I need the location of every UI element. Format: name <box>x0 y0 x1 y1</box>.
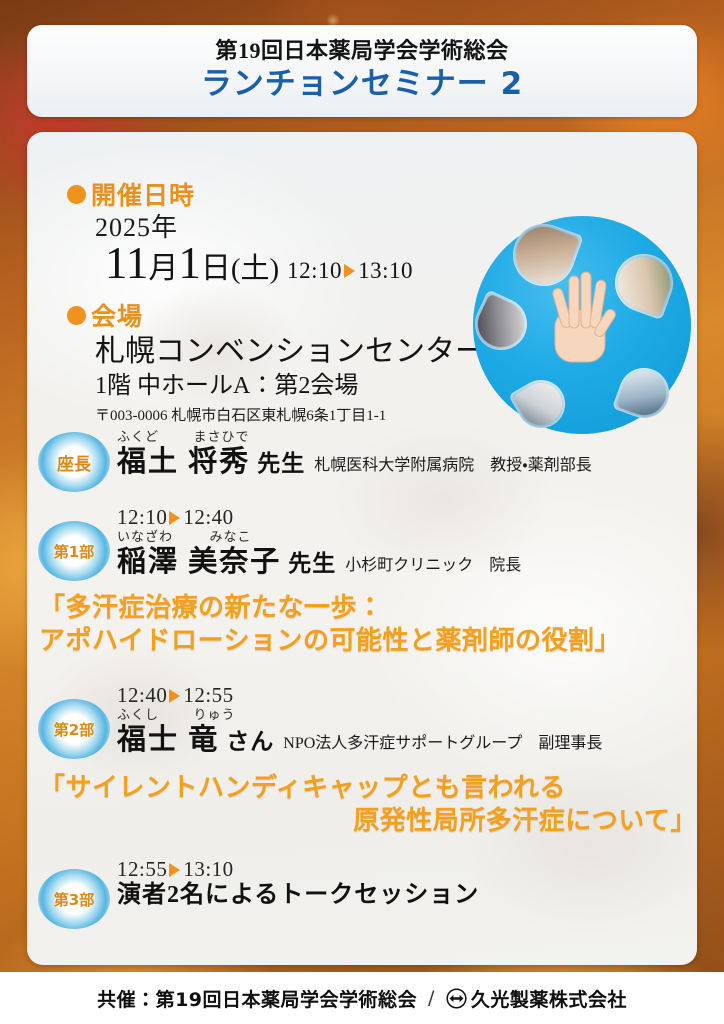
chair-affiliation: 札幌医科大学附属病院 教授・薬剤部長 <box>314 451 591 475</box>
time-arrow-icon <box>344 264 355 278</box>
session-1-lecture-line1: 「多汗症治療の新たな一歩： <box>39 592 697 625</box>
session-1-time: 12:1012:40 <box>117 507 697 528</box>
session-3-badge-label: 第3部 <box>54 889 94 910</box>
event-day-number: 1 <box>178 241 201 286</box>
datetime-heading-row: 開催日時 <box>67 176 413 212</box>
session-1-row: 第1部 12:1012:40 いなざわ みなこ 稲澤 美奈子 先生 小杉町クリニ… <box>27 507 697 579</box>
session-2-lecture-line1: 「サイレントハンディキャップとも言われる <box>39 772 697 805</box>
session-1-badge: 第1部 <box>38 521 110 581</box>
datetime-heading: 開催日時 <box>91 176 195 212</box>
session-3-description: 演者2名によるトークセッション <box>117 882 697 908</box>
venue-hall: 1階 中ホールA：第2会場 <box>95 373 485 401</box>
session-2-badge: 第2部 <box>38 699 110 759</box>
cohost-label: 共催：第19回日本薬局学会学術総会 <box>97 985 417 1012</box>
chair-row: 座長 ふくど まさひで 福土 将秀 先生 札幌医科大学附属病院 教授・薬剤部長 <box>27 430 697 479</box>
chair-yomi-given: まさひで <box>194 429 250 444</box>
datetime-section: 開催日時 2025年 11 月 1 日 (土) 12:10 13:10 <box>67 176 413 286</box>
session-2-honorific: さん <box>226 722 274 756</box>
venue-heading-row: 会場 <box>67 297 485 333</box>
footer-bar: 共催：第19回日本薬局学会学術総会 / 久光製薬株式会社 <box>0 972 724 1024</box>
session-1-yomi-family: いなざわ <box>117 529 173 544</box>
session-1-speaker-name: 稲澤 美奈子 <box>117 547 281 579</box>
session-2-yomi-family: ふくし <box>117 707 159 722</box>
conference-subtitle: 第19回日本薬局学会学術総会 <box>215 39 508 63</box>
footer-separator: / <box>428 987 435 1009</box>
session-3-row: 第3部 12:5513:10 演者2名によるトークセッション <box>27 859 697 908</box>
session-1-honorific: 先生 <box>288 544 336 578</box>
event-start-time: 12:10 <box>287 259 342 282</box>
venue-heading: 会場 <box>91 297 143 333</box>
session-1-lecture-title: 「多汗症治療の新たな一歩： アポハイドローションの可能性と薬剤師の役割」 <box>39 592 697 659</box>
header-banner: 第19回日本薬局学会学術総会 ランチョンセミナー 2 <box>27 25 697 117</box>
session-2-row: 第2部 12:4012:55 ふくし りゅう 福士 竜 さん NPO法人多汗症サ… <box>27 685 697 757</box>
session-1-affiliation: 小杉町クリニック 院長 <box>345 551 521 575</box>
seminar-poster: 第19回日本薬局学会学術総会 ランチョンセミナー 2 開催日時 2025年 11… <box>0 0 724 1024</box>
main-content-panel: 開催日時 2025年 11 月 1 日 (土) 12:10 13:10 <box>27 132 697 965</box>
chair-name-line: 福土 将秀 先生 札幌医科大学附属病院 教授・薬剤部長 <box>117 444 697 479</box>
person-photo-bubble <box>612 361 676 425</box>
session-1-name-line: 稲澤 美奈子 先生 小杉町クリニック 院長 <box>117 544 697 579</box>
session-3-time: 12:5513:10 <box>117 859 697 880</box>
session-1-lecture-line2: アポハイドローションの可能性と薬剤師の役割」 <box>39 625 697 658</box>
session-2-lecture-line2: 原発性局所多汗症について」 <box>39 805 697 838</box>
session-1-yomi: いなざわ みなこ <box>117 530 697 543</box>
chair-honorific: 先生 <box>257 444 305 478</box>
session-2-end-time: 12:55 <box>183 683 233 707</box>
venue-name: 札幌コンベンションセンター <box>95 335 485 370</box>
session-2-affiliation: NPO法人多汗症サポートグループ 副理事長 <box>283 729 602 753</box>
event-date-line: 11 月 1 日 (土) 12:10 13:10 <box>105 241 413 286</box>
chair-yomi-family: ふくど <box>117 429 159 444</box>
open-hand-icon <box>543 264 621 368</box>
hisamitsu-logo-icon <box>446 988 467 1009</box>
chair-yomi: ふくど まさひで <box>117 430 697 443</box>
footer-content: 共催：第19回日本薬局学会学術総会 / 久光製薬株式会社 <box>97 985 627 1012</box>
session-2-lecture-title: 「サイレントハンディキャップとも言われる 原発性局所多汗症について」 <box>39 772 697 839</box>
chair-badge: 座長 <box>38 432 110 492</box>
session-2-start-time: 12:40 <box>117 683 167 707</box>
session-3-start-time: 12:55 <box>117 857 167 881</box>
chair-name: 福土 将秀 <box>117 447 250 479</box>
session-2-badge-label: 第2部 <box>54 719 94 740</box>
sponsor-name: 久光製薬株式会社 <box>471 985 627 1012</box>
event-month-number: 11 <box>105 241 148 286</box>
person-photo-bubble <box>466 289 535 358</box>
session-2-name-line: 福士 竜 さん NPO法人多汗症サポートグループ 副理事長 <box>117 722 697 757</box>
session-2-time: 12:4012:55 <box>117 685 697 706</box>
session-2-yomi: ふくし りゅう <box>117 708 697 721</box>
bullet-dot-icon <box>67 185 86 204</box>
session-3-end-time: 13:10 <box>183 857 233 881</box>
session-3-badge: 第3部 <box>38 869 110 929</box>
seminar-title: ランチョンセミナー 2 <box>201 67 523 103</box>
event-end-time: 13:10 <box>358 259 413 282</box>
venue-address: 〒003-0006 札幌市白石区東札幌6条1丁目1-1 <box>95 404 485 425</box>
session-1-start-time: 12:10 <box>117 505 167 529</box>
chair-badge-label: 座長 <box>57 450 91 475</box>
bullet-dot-icon <box>67 306 86 325</box>
session-1-end-time: 12:40 <box>183 505 233 529</box>
event-dayofweek: (土) <box>231 255 279 284</box>
event-day-unit: 日 <box>201 254 231 284</box>
session-1-badge-label: 第1部 <box>54 541 94 562</box>
session-1-yomi-given: みなこ <box>210 529 252 544</box>
session-2-speaker-name: 福士 竜 <box>117 725 219 757</box>
session-2-yomi-given: りゅう <box>194 707 236 722</box>
event-month-unit: 月 <box>148 254 178 284</box>
person-photo-bubble <box>508 371 574 437</box>
venue-section: 会場 札幌コンベンションセンター 1階 中ホールA：第2会場 〒003-0006… <box>67 297 485 425</box>
hero-circle-graphic <box>473 216 691 434</box>
